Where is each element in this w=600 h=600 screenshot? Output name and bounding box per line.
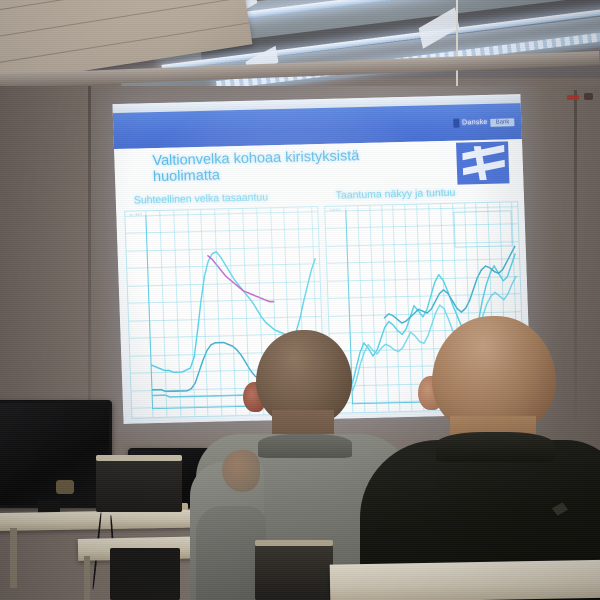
desk-leg <box>10 528 17 588</box>
brand-suffix: Bank <box>491 118 515 127</box>
chair-left <box>96 460 182 512</box>
attendee-front-right <box>370 316 600 600</box>
desk-object <box>56 480 74 494</box>
subtitle-left: Suhteellinen velka tasaantuu <box>126 190 336 207</box>
desk-leg <box>84 556 90 600</box>
lecture-room-photo: Danske Bank Valtionvelka kohoaa kiristyk… <box>0 0 600 600</box>
hand <box>222 450 260 492</box>
chair-left-seat <box>110 548 180 600</box>
brand-square-icon <box>453 119 459 128</box>
danske-bank-logo: Danske Bank <box>453 117 515 127</box>
collar <box>258 434 352 458</box>
subtitle-right: Taantuma näkyy ja tuntuu <box>335 185 514 201</box>
slide-title: Valtionvelka kohoaa kiristyksistä huolim… <box>152 147 418 186</box>
wall-fixture-dark <box>584 93 593 100</box>
chair-right <box>255 545 333 600</box>
finland-flag-icon <box>456 141 509 184</box>
desk-front-row <box>330 559 600 600</box>
wall-fixture-red <box>567 95 579 100</box>
brand-name: Danske <box>462 119 488 127</box>
collar <box>436 432 554 462</box>
